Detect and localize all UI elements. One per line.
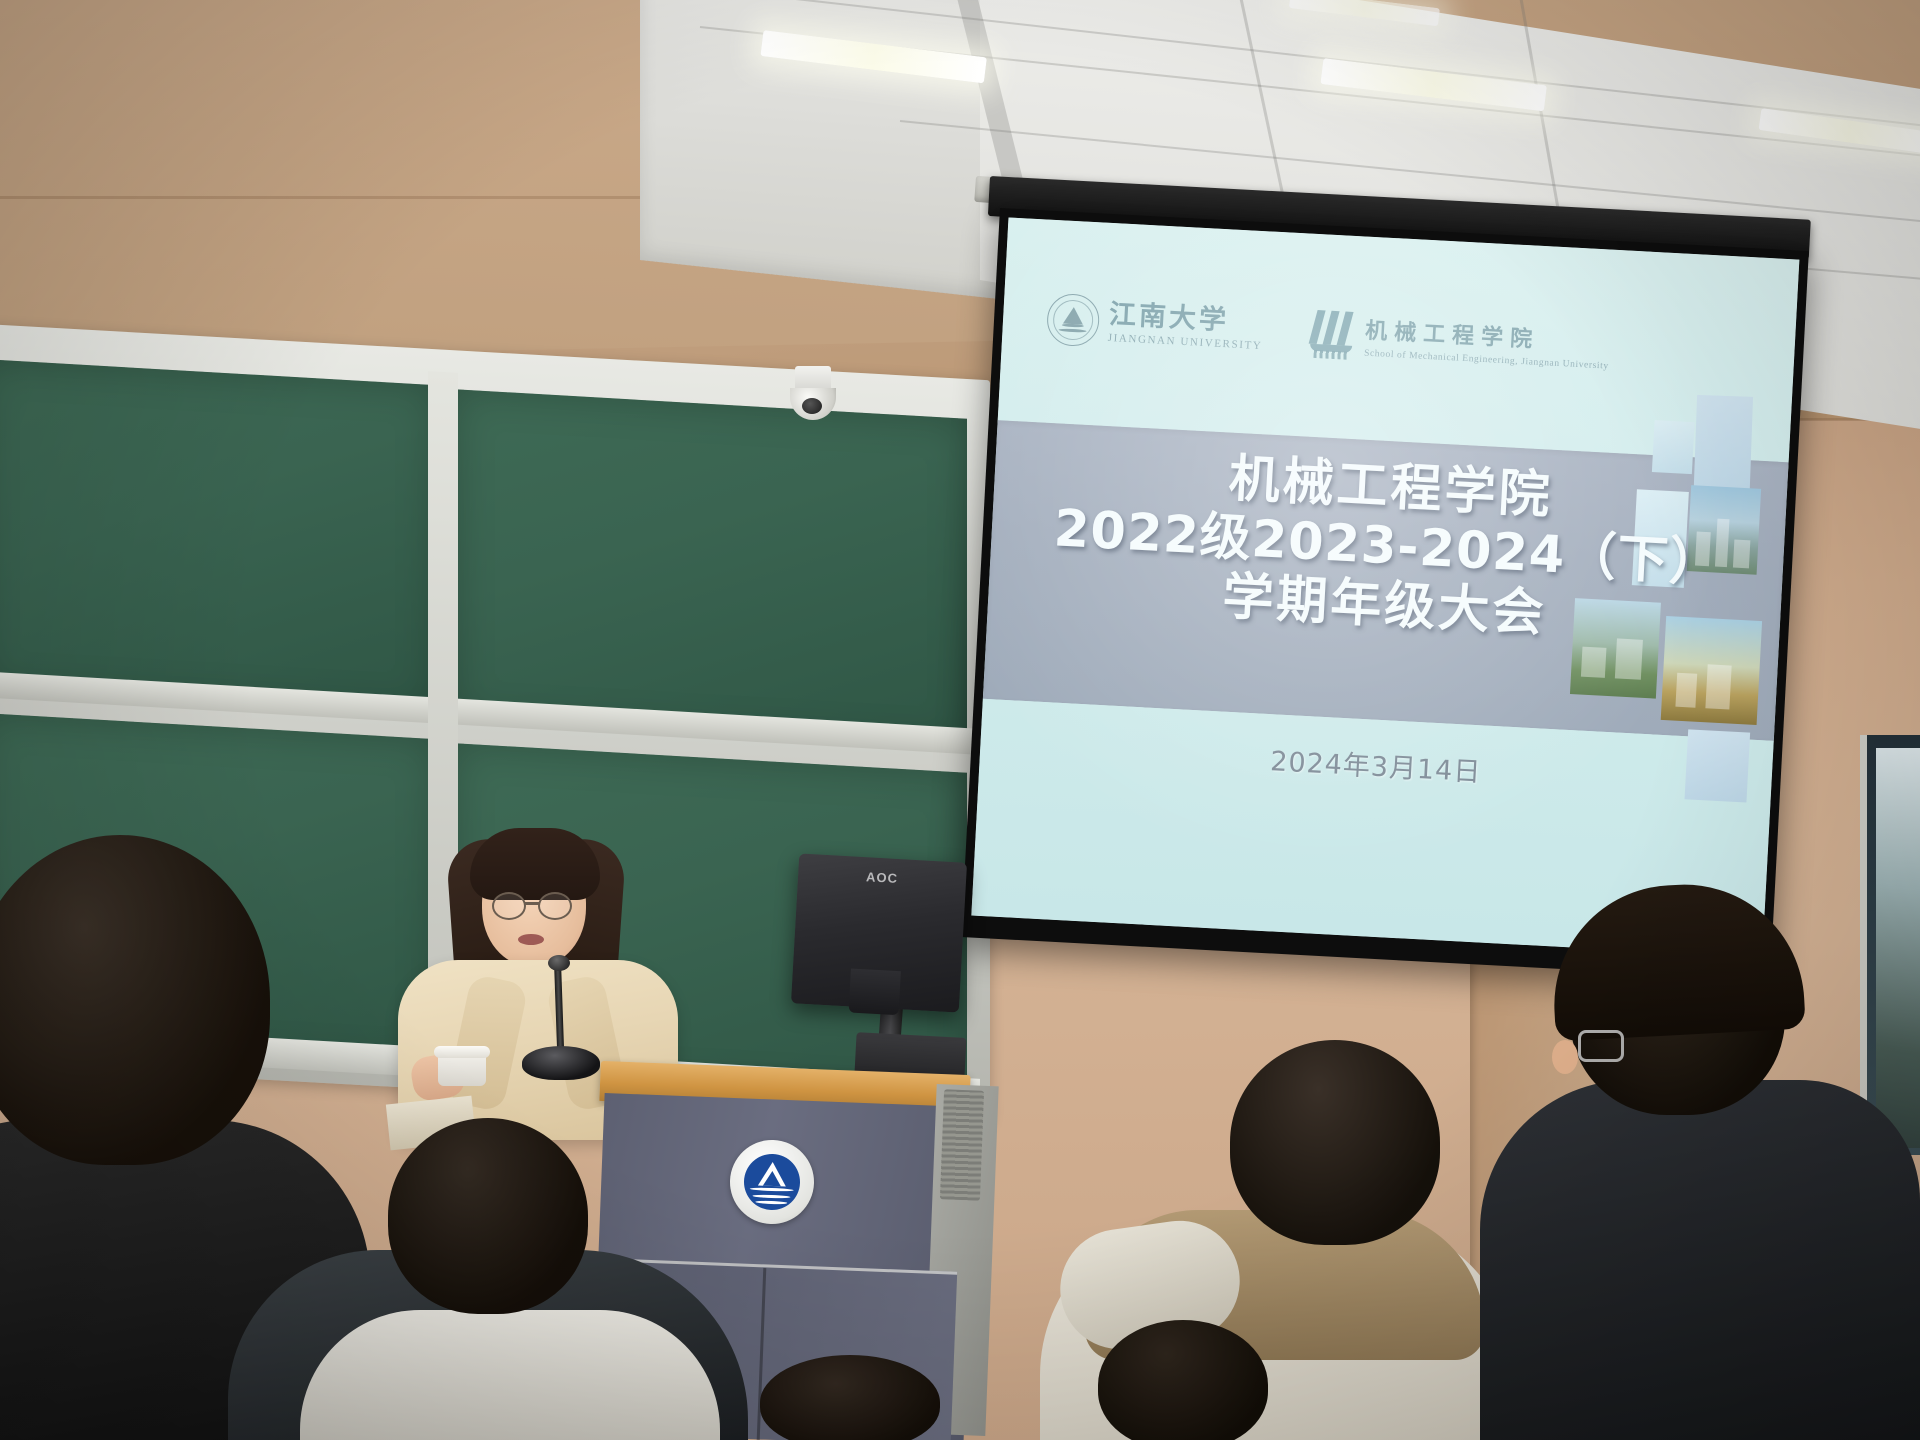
blackboard-panel-upper-right: [455, 389, 967, 749]
presenter-glasses-right-lens: [538, 892, 572, 920]
jiangnan-university-seal-icon: [1045, 293, 1100, 348]
audience-member-head: [1098, 1320, 1268, 1440]
projection-screen[interactable]: 江南大学 JIANGNAN UNIVERSITY 机械工程学院 School o…: [961, 208, 1809, 980]
side-window-glass: [1876, 748, 1920, 1148]
aoc-monitor[interactable]: AOC: [791, 853, 967, 1012]
audience-member-body: [1480, 1080, 1920, 1440]
university-name-cn: 江南大学: [1108, 301, 1264, 336]
camera-lens-icon: [802, 398, 822, 414]
audience-member-head: [1230, 1040, 1440, 1245]
lectern-speaker-grille: [940, 1089, 984, 1200]
monitor-brand-label: AOC: [866, 869, 899, 886]
presenter-hair-top: [470, 828, 600, 900]
audience-member-glasses: [1578, 1030, 1624, 1062]
presenter-glasses-bridge: [524, 902, 540, 905]
microphone-base: [522, 1046, 600, 1080]
audience-member-head: [388, 1118, 588, 1314]
audience-member-hood: [300, 1310, 720, 1440]
presentation-slide: 江南大学 JIANGNAN UNIVERSITY 机械工程学院 School o…: [971, 217, 1799, 957]
blackboard-panel-upper-left: [0, 359, 435, 715]
audience-member-ear: [1552, 1040, 1578, 1074]
slide-decor-tile: [1652, 420, 1695, 474]
monitor-neck: [849, 968, 901, 1015]
lecture-hall-photo: 江南大学 JIANGNAN UNIVERSITY 机械工程学院 School o…: [0, 0, 1920, 1440]
mechanical-engineering-mark-icon: [1308, 308, 1357, 360]
presenter-glasses-left-lens: [492, 892, 526, 920]
microphone-icon: [548, 955, 570, 971]
water-cup-lid: [434, 1046, 490, 1058]
audience-member-head: [760, 1355, 940, 1440]
presenter-mouth: [518, 934, 544, 945]
